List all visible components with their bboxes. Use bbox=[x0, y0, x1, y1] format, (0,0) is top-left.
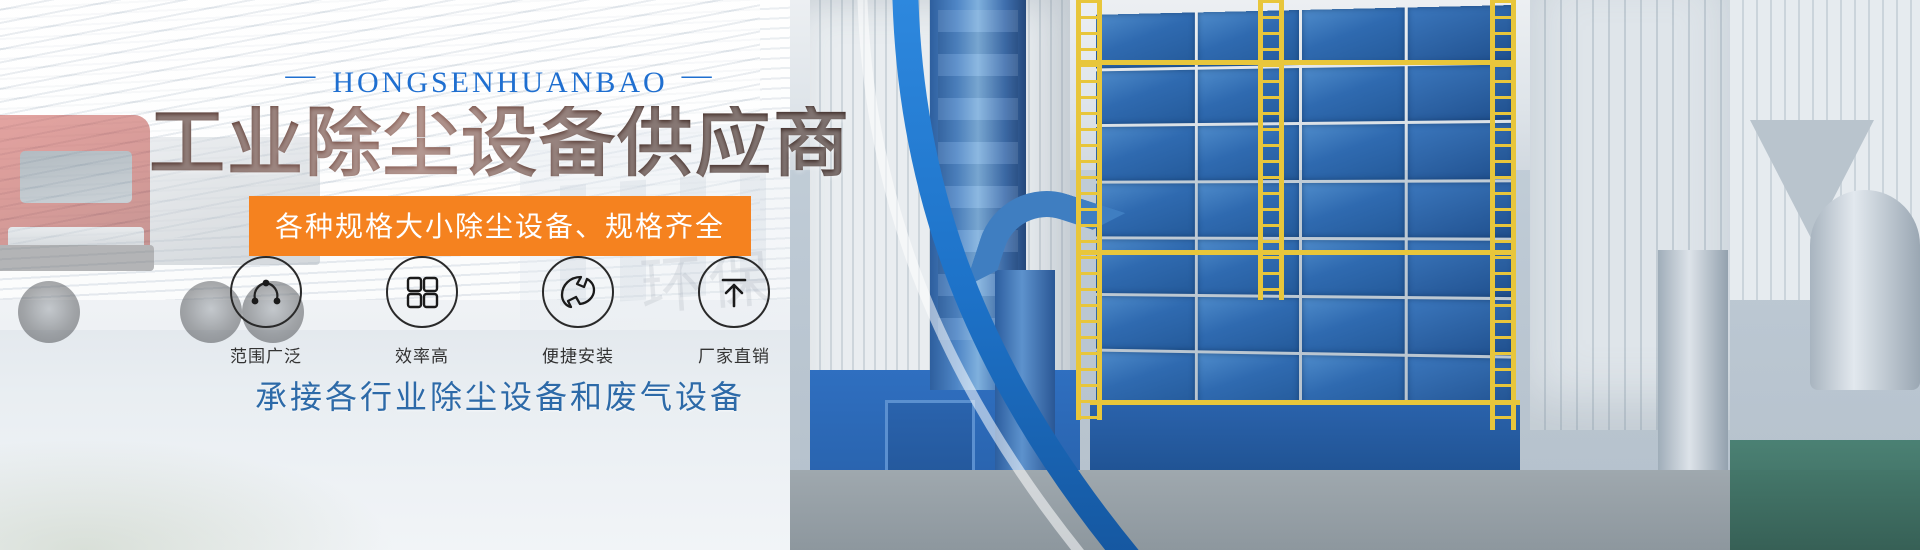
photo-yellow-handrail bbox=[1076, 60, 1516, 65]
banner-tagline: 承接各行业除尘设备和废气设备 bbox=[0, 372, 1000, 418]
brand-eyebrow: —HONGSENHUANBAO— bbox=[0, 66, 1000, 100]
feature-label: 厂家直销 bbox=[679, 342, 789, 367]
network-nodes-icon bbox=[230, 256, 302, 328]
arrow-up-bar-icon bbox=[698, 256, 770, 328]
photo-yellow-handrail bbox=[1076, 250, 1516, 255]
eyebrow-text: HONGSENHUANBAO bbox=[332, 66, 667, 99]
banner-content: 环保 —HONGSENHUANBAO— 工业除尘设备供应商 各种规格大小除尘设备… bbox=[0, 0, 1000, 550]
feature-label: 便捷安装 bbox=[523, 342, 633, 367]
hero-banner: 环保 —HONGSENHUANBAO— 工业除尘设备供应商 各种规格大小除尘设备… bbox=[0, 0, 1920, 550]
eyebrow-dash-left: — bbox=[285, 58, 318, 92]
feature-item-factory-direct[interactable]: 厂家直销 bbox=[679, 256, 789, 367]
grid-squares-icon bbox=[386, 256, 458, 328]
feature-item-install[interactable]: 便捷安装 bbox=[523, 256, 633, 367]
feature-item-range[interactable]: 范围广泛 bbox=[211, 256, 321, 367]
photo-greenery bbox=[1730, 440, 1920, 550]
photo-storage-tank bbox=[1810, 190, 1920, 390]
photo-yellow-handrail bbox=[1090, 400, 1520, 405]
subtitle-orange-bar: 各种规格大小除尘设备、规格齐全 bbox=[249, 196, 751, 256]
feature-item-efficiency[interactable]: 效率高 bbox=[367, 256, 477, 367]
feature-label: 范围广泛 bbox=[211, 342, 321, 367]
eyebrow-dash-right: — bbox=[682, 58, 715, 92]
feature-label: 效率高 bbox=[367, 342, 477, 367]
page-title: 工业除尘设备供应商 bbox=[0, 106, 1000, 182]
photo-baghouse-modules bbox=[1096, 5, 1514, 415]
wrench-circle-icon bbox=[542, 256, 614, 328]
photo-yellow-ladder bbox=[1258, 0, 1284, 300]
feature-list: 范围广泛 效率高 bbox=[0, 256, 1000, 367]
